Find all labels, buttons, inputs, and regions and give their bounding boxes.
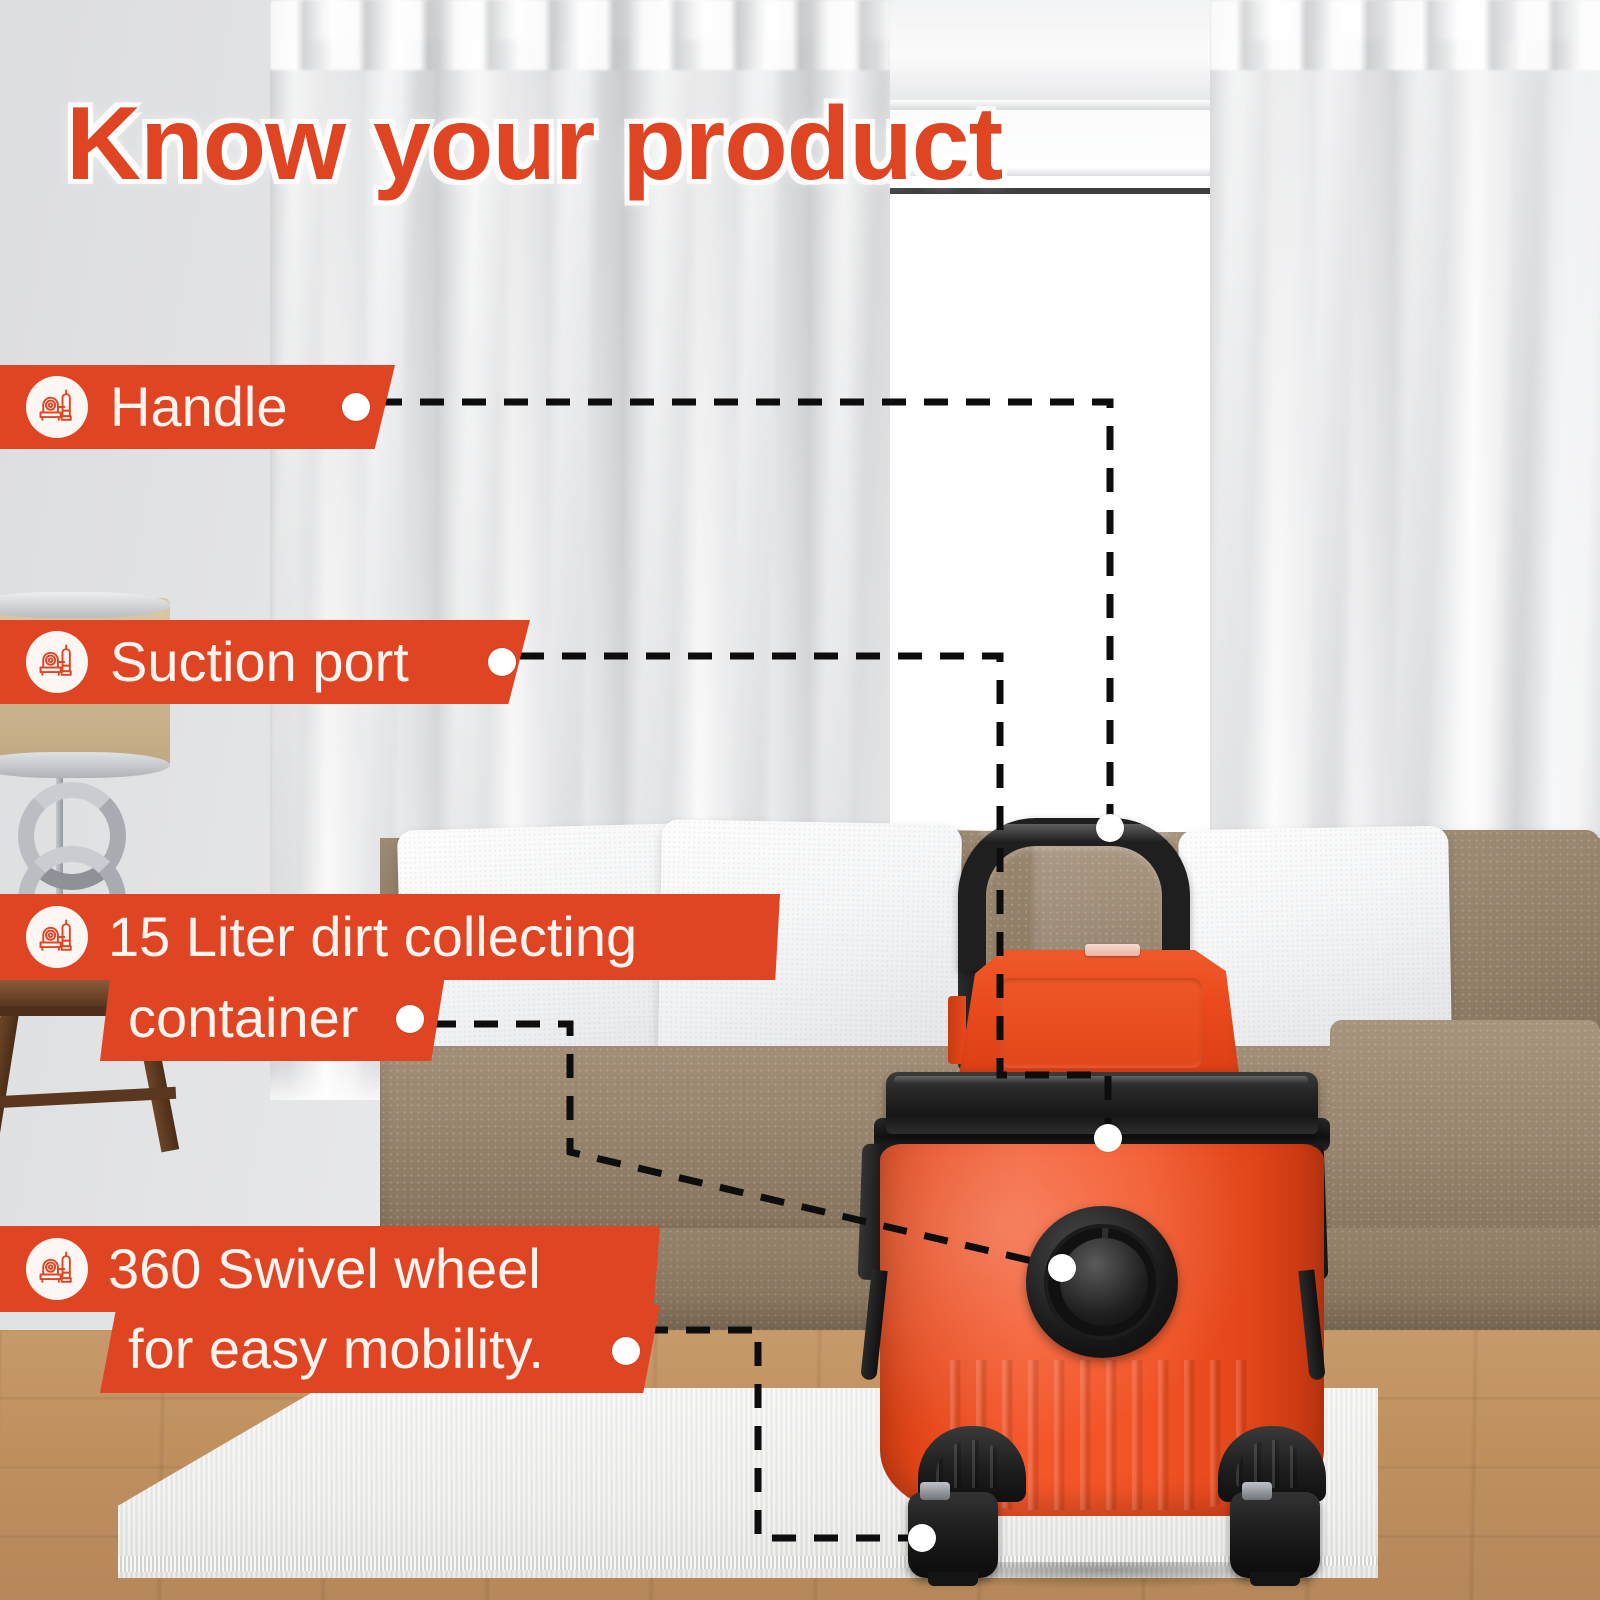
callout-badge-dirt-container-line2[interactable]: container — [100, 975, 445, 1061]
callout-label-dirt-container-line1: 15 Liter dirt collecting — [108, 909, 637, 965]
badge-anchor-dot-dirt-container — [396, 1005, 424, 1033]
vacuum-cleaner-icon — [26, 1238, 88, 1300]
endpoint-dot-dirt-container — [1048, 1254, 1076, 1282]
badge-anchor-dot-swivel-wheel — [612, 1337, 640, 1365]
callout-badge-dirt-container-line1[interactable]: 15 Liter dirt collecting — [0, 894, 780, 980]
page-title: Know your product — [66, 92, 1002, 196]
callout-badge-suction-port[interactable]: Suction port — [0, 620, 530, 704]
badge-anchor-dot-handle — [342, 393, 370, 421]
callout-label-handle: Handle — [110, 379, 287, 435]
callout-label-suction-port: Suction port — [110, 634, 409, 690]
vacuum-cleaner-icon — [26, 631, 88, 693]
callout-badge-swivel-wheel-line1[interactable]: 360 Swivel wheel — [0, 1226, 660, 1312]
endpoint-dot-swivel-wheel — [908, 1524, 936, 1552]
badge-anchor-dot-suction-port — [488, 648, 516, 676]
endpoint-dot-handle — [1096, 814, 1124, 842]
callout-badge-handle[interactable]: Handle — [0, 365, 395, 449]
vacuum-cleaner-icon — [26, 376, 88, 438]
endpoint-dot-suction-port — [1094, 1124, 1122, 1152]
connector-swivel-wheel — [644, 1330, 922, 1538]
infographic-canvas: Know your product Handle — [0, 0, 1600, 1600]
callout-label-swivel-wheel-line1: 360 Swivel wheel — [108, 1241, 541, 1297]
callout-badge-swivel-wheel-line2[interactable]: for easy mobility. — [100, 1305, 660, 1393]
vacuum-cleaner-icon — [26, 906, 88, 968]
callout-label-swivel-wheel-line2: for easy mobility. — [128, 1321, 544, 1377]
callout-label-dirt-container-line2: container — [128, 990, 358, 1046]
